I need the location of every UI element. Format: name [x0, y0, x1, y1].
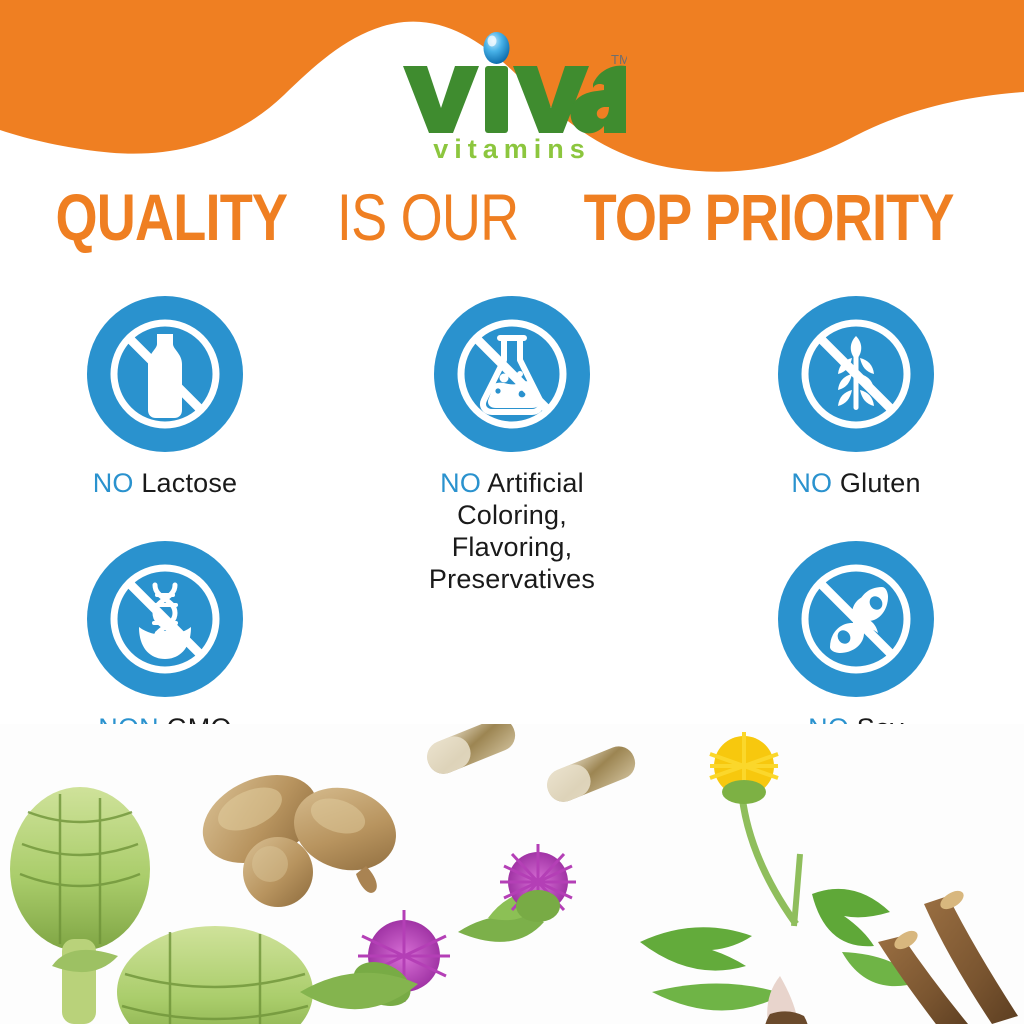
- herbal-capsules: [422, 724, 640, 807]
- botanical-photo-band: [0, 724, 1024, 1024]
- badge-text-line-3: Flavoring,: [452, 532, 573, 562]
- infographic-canvas: TM vitamins QUALITY IS OUR TOP PRIORITY: [0, 0, 1024, 1024]
- badge-label-no-gluten: NO Gluten: [686, 468, 1024, 500]
- badge-label-no-artificial: NO Artificial Coloring, Flavoring, Prese…: [342, 468, 682, 595]
- badge-no-lactose: NO Lactose: [0, 296, 335, 500]
- brand-logo: TM vitamins: [0, 28, 1024, 165]
- viva-wordmark: TM: [397, 28, 627, 140]
- badge-label-no-lactose: NO Lactose: [0, 468, 335, 500]
- no-gmo-dna-leaf-icon: [87, 541, 243, 697]
- badge-prefix: NO: [93, 468, 134, 498]
- milk-thistle-flowers: [300, 844, 576, 1014]
- badge-prefix: NO: [440, 468, 481, 498]
- no-milk-bottle-icon: [87, 296, 243, 452]
- badge-no-soy: NO Soy: [686, 541, 1024, 745]
- badge-no-artificial: NO Artificial Coloring, Flavoring, Prese…: [342, 296, 682, 595]
- headline-part-quality: QUALITY: [55, 184, 287, 250]
- no-flask-icon: [434, 296, 590, 452]
- headline-part-is-our: IS OUR: [337, 184, 519, 250]
- page-title: QUALITY IS OUR TOP PRIORITY: [0, 184, 1024, 250]
- badge-text-line-1: Artificial: [487, 468, 584, 498]
- licorice-root-sticks: [878, 887, 1018, 1024]
- badge-no-gluten: NO Gluten: [686, 296, 1024, 500]
- dandelion-plant-with-root: [640, 732, 920, 1024]
- botanical-illustration: [0, 724, 1024, 1024]
- maca-root-tubers: [189, 758, 407, 907]
- no-wheat-icon: [778, 296, 934, 452]
- claims-badge-grid: NO Lactose: [0, 296, 1024, 766]
- no-soybean-icon: [778, 541, 934, 697]
- badge-prefix: NO: [791, 468, 832, 498]
- header-wave-banner: TM vitamins: [0, 0, 1024, 180]
- badge-text-line-4: Preservatives: [429, 564, 595, 594]
- badge-text-line-2: Coloring,: [457, 500, 567, 530]
- headline-part-top-priority: TOP PRIORITY: [583, 184, 953, 250]
- badge-text: Gluten: [840, 468, 921, 498]
- badge-text: Lactose: [141, 468, 237, 498]
- badge-non-gmo: NON GMO: [0, 541, 335, 745]
- trademark-symbol: TM: [611, 52, 627, 67]
